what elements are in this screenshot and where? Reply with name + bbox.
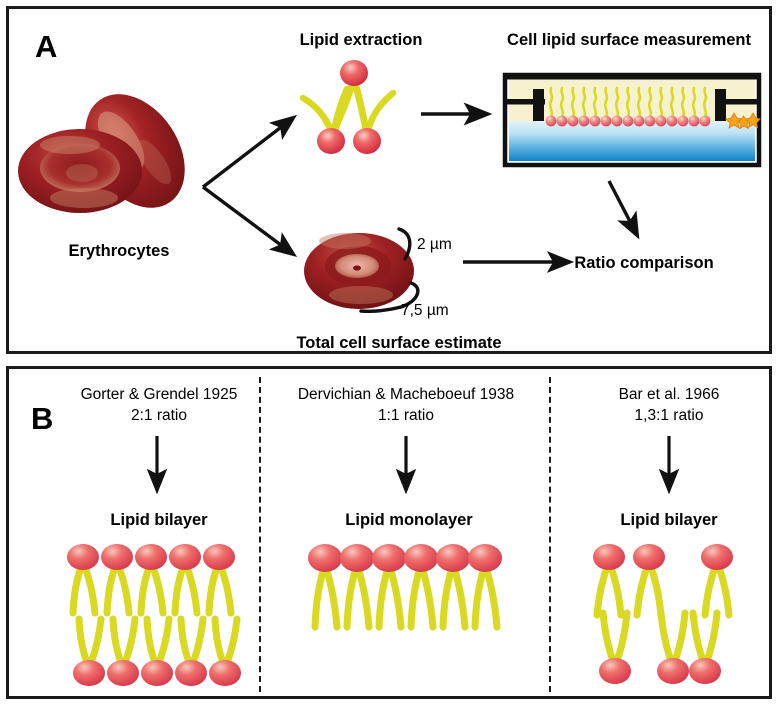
column-3-citation: Bar et al. 1966 1,3:1 ratio — [579, 385, 759, 427]
arrow-down-right-icon — [601, 177, 671, 257]
citation-text: Gorter & Grendel 1925 — [64, 385, 254, 406]
langmuir-trough-icon — [503, 73, 761, 167]
lipid-head-row-top — [593, 544, 733, 570]
arrow-down-icon — [390, 434, 422, 506]
lipid-cluster-icon — [297, 53, 427, 158]
lipid-bilayer-icon — [65, 541, 253, 689]
citation-text: Bar et al. 1966 — [579, 385, 759, 406]
ratio-text: 1,3:1 ratio — [579, 406, 759, 427]
panel-a: A — [6, 6, 772, 354]
ratio-comparison-label: Ratio comparison — [549, 254, 739, 273]
total-cell-surface-estimate-label: Total cell surface estimate — [259, 334, 539, 353]
lipid-extraction-label: Lipid extraction — [271, 31, 451, 50]
panel-b-label: B — [31, 401, 53, 437]
figure-root: A — [0, 0, 778, 705]
cell-thickness-label: 2 µm — [417, 236, 452, 254]
panel-a-label: A — [35, 29, 57, 65]
lipid-head-row-top — [308, 544, 502, 572]
column-3-result: Lipid bilayer — [579, 511, 759, 530]
column-divider-1 — [259, 377, 261, 692]
column-2-result: Lipid monolayer — [309, 511, 509, 530]
lipid-monolayer-icon — [307, 541, 507, 661]
citation-text: Dervichian & Macheboeuf 1938 — [281, 385, 531, 406]
ratio-text: 1:1 ratio — [281, 406, 531, 427]
arrow-down-icon — [141, 434, 173, 506]
ratio-text: 2:1 ratio — [64, 406, 254, 427]
lipid-bilayer-sparse-icon — [587, 541, 757, 689]
column-divider-2 — [549, 377, 551, 692]
lipid-head-row-top — [67, 544, 235, 570]
cell-diameter-label: 7,5 µm — [401, 302, 449, 320]
column-2-citation: Dervichian & Macheboeuf 1938 1:1 ratio — [281, 385, 531, 427]
arrow-right-icon — [419, 101, 505, 127]
column-1-citation: Gorter & Grendel 1925 2:1 ratio — [64, 385, 254, 427]
cell-lipid-surface-measurement-label: Cell lipid surface measurement — [489, 31, 769, 50]
lipid-head-row-bottom — [73, 660, 241, 686]
lipid-head-row-bottom — [599, 658, 721, 684]
arrow-down-icon — [653, 434, 685, 506]
panel-b: B Gorter & Grendel 1925 2:1 ratio Lipid … — [6, 366, 772, 699]
column-1-result: Lipid bilayer — [67, 511, 251, 530]
